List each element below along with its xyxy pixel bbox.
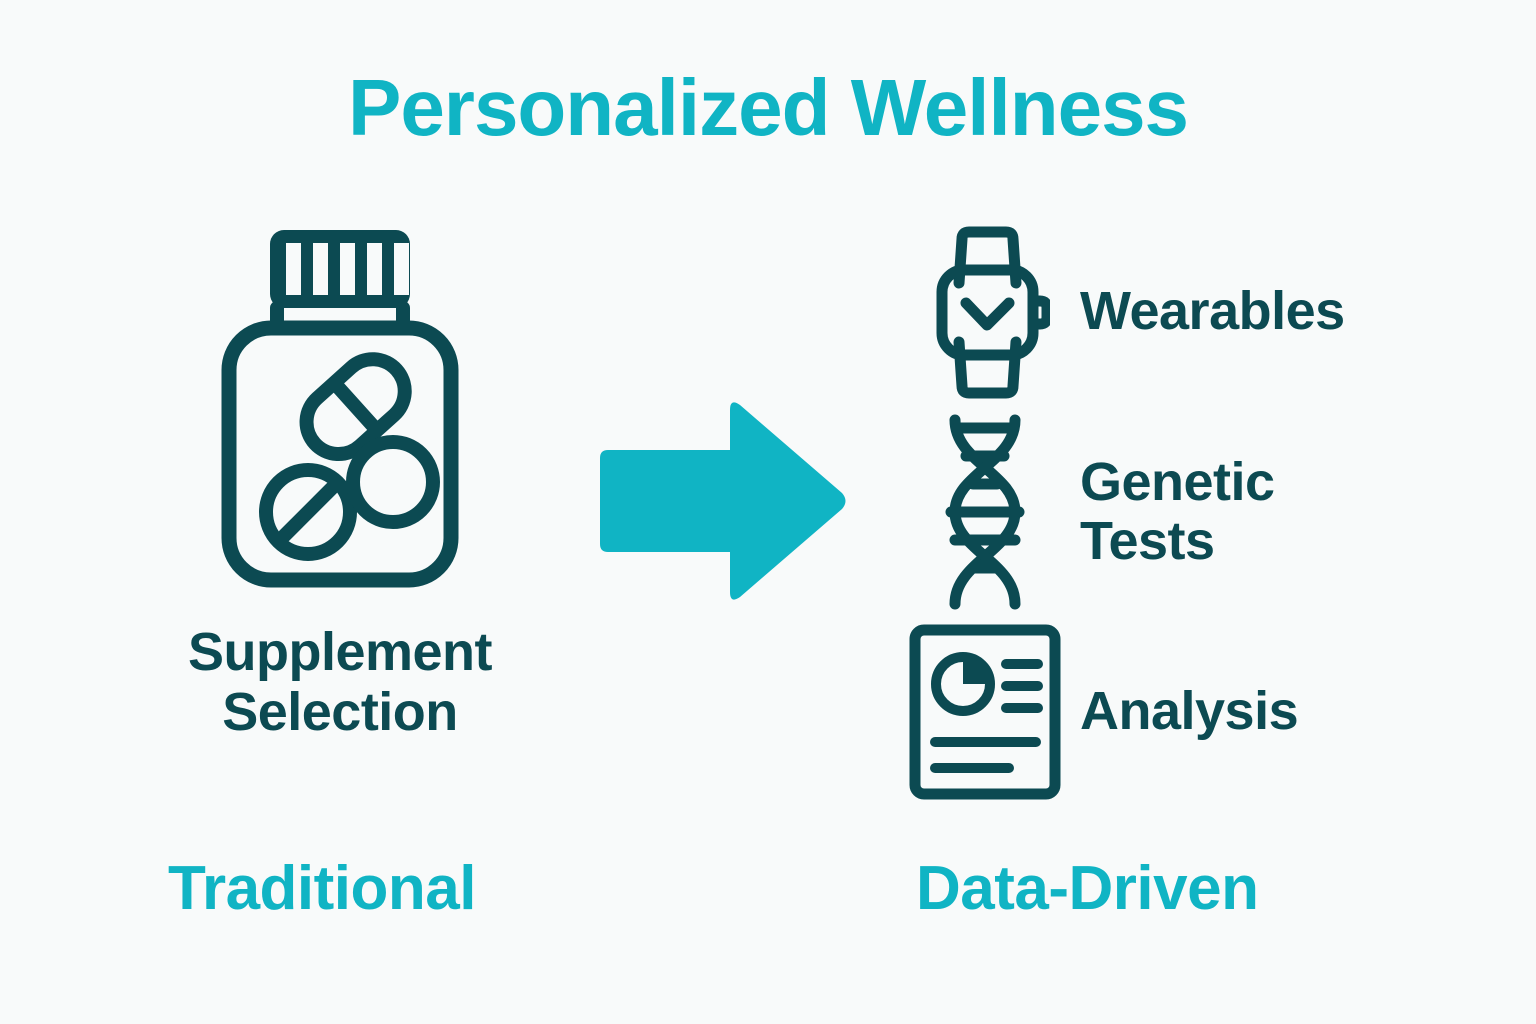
feature-row: Analysis xyxy=(890,612,1450,812)
feature-label: Analysis xyxy=(1080,682,1298,741)
smartwatch-icon xyxy=(890,225,1080,400)
traditional-footer-label: Traditional xyxy=(168,858,476,920)
feature-label-line1: Wearables xyxy=(1080,281,1345,341)
pill-bottle-icon xyxy=(215,210,465,600)
feature-row: Wearables xyxy=(890,212,1450,412)
feature-label-line1: Genetic xyxy=(1080,452,1275,512)
feature-label: Wearables xyxy=(1080,282,1345,341)
page-title: Personalized Wellness xyxy=(0,66,1536,150)
analysis-document-icon xyxy=(890,622,1080,802)
feature-label-line1: Analysis xyxy=(1080,681,1298,741)
traditional-caption-line2: Selection xyxy=(188,682,492,742)
feature-label-line2: Tests xyxy=(1080,512,1275,571)
data-driven-group: Wearables xyxy=(890,212,1450,812)
infographic-canvas: Personalized Wellness xyxy=(0,0,1536,1024)
feature-label: Genetic Tests xyxy=(1080,453,1275,572)
traditional-group: Supplement Selection xyxy=(110,210,570,743)
dna-helix-icon xyxy=(890,412,1080,612)
traditional-caption-line1: Supplement xyxy=(188,622,492,682)
data-driven-footer-label: Data-Driven xyxy=(916,858,1259,920)
feature-row: Genetic Tests xyxy=(890,412,1450,612)
traditional-caption: Supplement Selection xyxy=(188,622,492,743)
right-arrow-icon xyxy=(592,396,848,606)
